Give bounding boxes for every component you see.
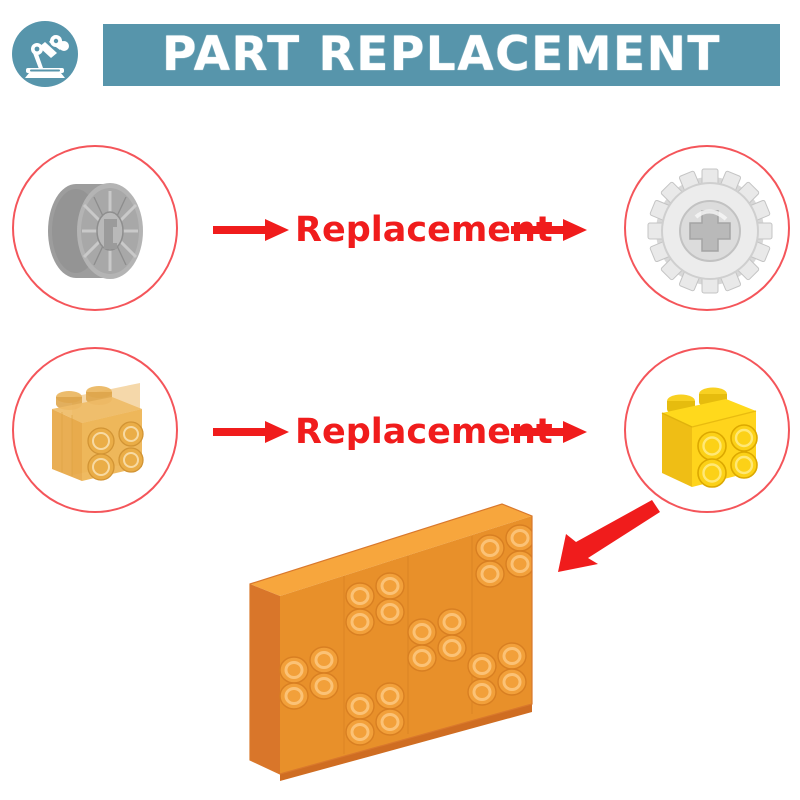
arrow-right-icon [213,418,289,446]
replacement-strip-2: Replacement [205,407,595,457]
orange-panel-icon [232,492,552,782]
page-title: PART REPLACEMENT [103,24,780,86]
robot-arm-icon [12,21,78,87]
replacement-row-1: Replacement [0,145,800,315]
arrow-right-icon [213,216,289,244]
header-icon [12,21,78,87]
yellow-brick-side-studs-icon [626,349,792,515]
new-part-circle-1[interactable] [624,145,790,311]
replacement-label-1: Replacement [295,205,509,255]
arrow-right-icon [511,418,587,446]
header-banner-area: PART REPLACEMENT [0,0,800,108]
result-part-panel[interactable] [232,492,552,782]
replacement-strip-1: Replacement [205,205,595,255]
new-part-circle-2[interactable] [624,347,790,513]
arrow-right-icon [511,216,587,244]
white-gear-icon [626,147,792,313]
diagonal-arrow-down-left-icon [548,496,660,576]
grey-wheel-hub-icon [14,147,180,313]
replacement-label-2: Replacement [295,407,509,457]
translucent-orange-brick-icon [14,349,180,515]
old-part-circle-1[interactable] [12,145,178,311]
old-part-circle-2[interactable] [12,347,178,513]
